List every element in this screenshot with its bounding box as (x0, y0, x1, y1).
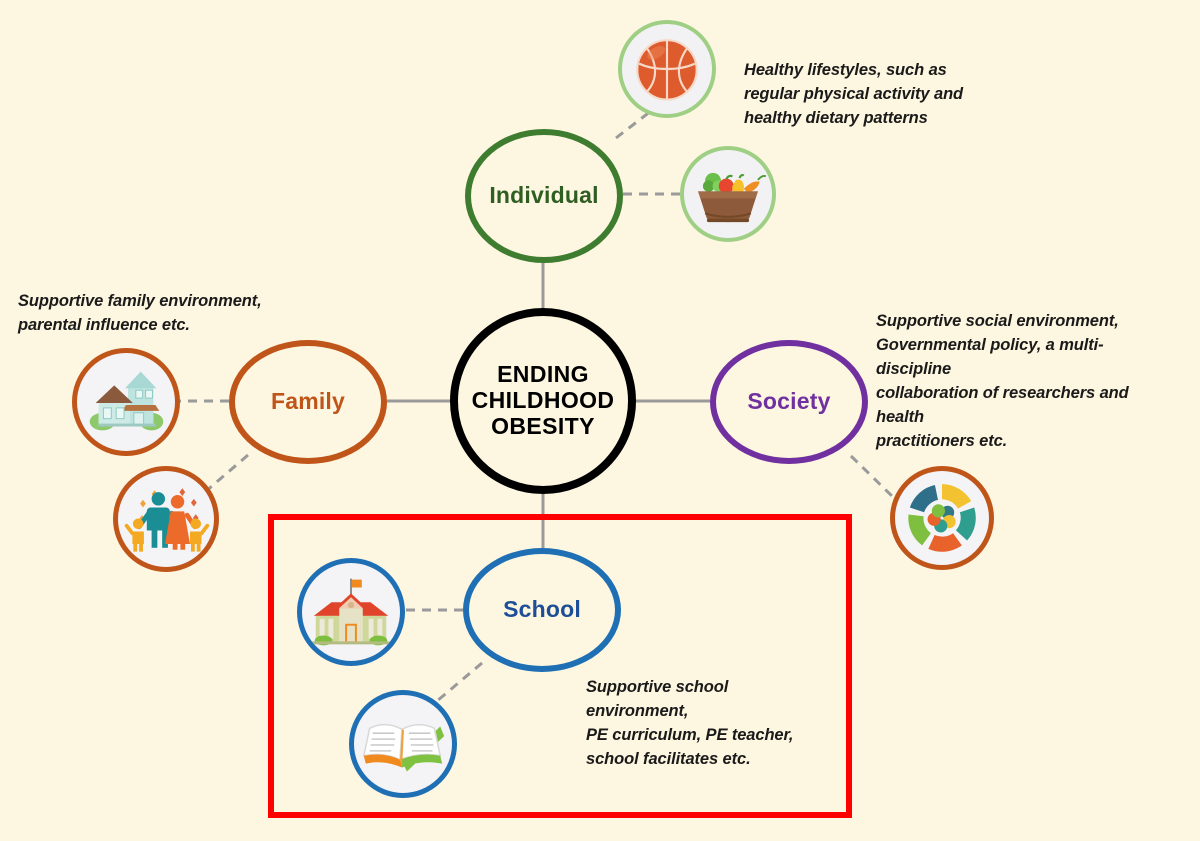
open-book-icon (349, 690, 457, 798)
diagram-canvas: ENDING CHILDHOOD OBESITY Individual (0, 0, 1200, 841)
hub-label: ENDING CHILDHOOD OBESITY (472, 362, 615, 439)
basketball-icon (618, 20, 716, 118)
node-school[interactable]: School (463, 548, 621, 672)
node-society-label: Society (747, 389, 830, 415)
hub-node-ending-childhood-obesity[interactable]: ENDING CHILDHOOD OBESITY (450, 308, 636, 494)
caption-school: Supportive school environment, PE curric… (586, 676, 831, 772)
node-individual[interactable]: Individual (465, 129, 623, 263)
node-school-label: School (503, 597, 581, 623)
caption-society: Supportive social environment, Governmen… (876, 310, 1176, 454)
node-family[interactable]: Family (229, 340, 387, 464)
school-building-icon (297, 558, 405, 666)
salad-bowl-icon (680, 146, 776, 242)
teamwork-diversity-icon (890, 466, 994, 570)
caption-family: Supportive family environment, parental … (18, 290, 293, 338)
node-family-label: Family (271, 389, 345, 415)
node-individual-label: Individual (489, 183, 598, 209)
caption-individual: Healthy lifestyles, such as regular phys… (744, 59, 994, 131)
node-society[interactable]: Society (710, 340, 868, 464)
house-icon (72, 348, 180, 456)
family-group-icon (113, 466, 219, 572)
